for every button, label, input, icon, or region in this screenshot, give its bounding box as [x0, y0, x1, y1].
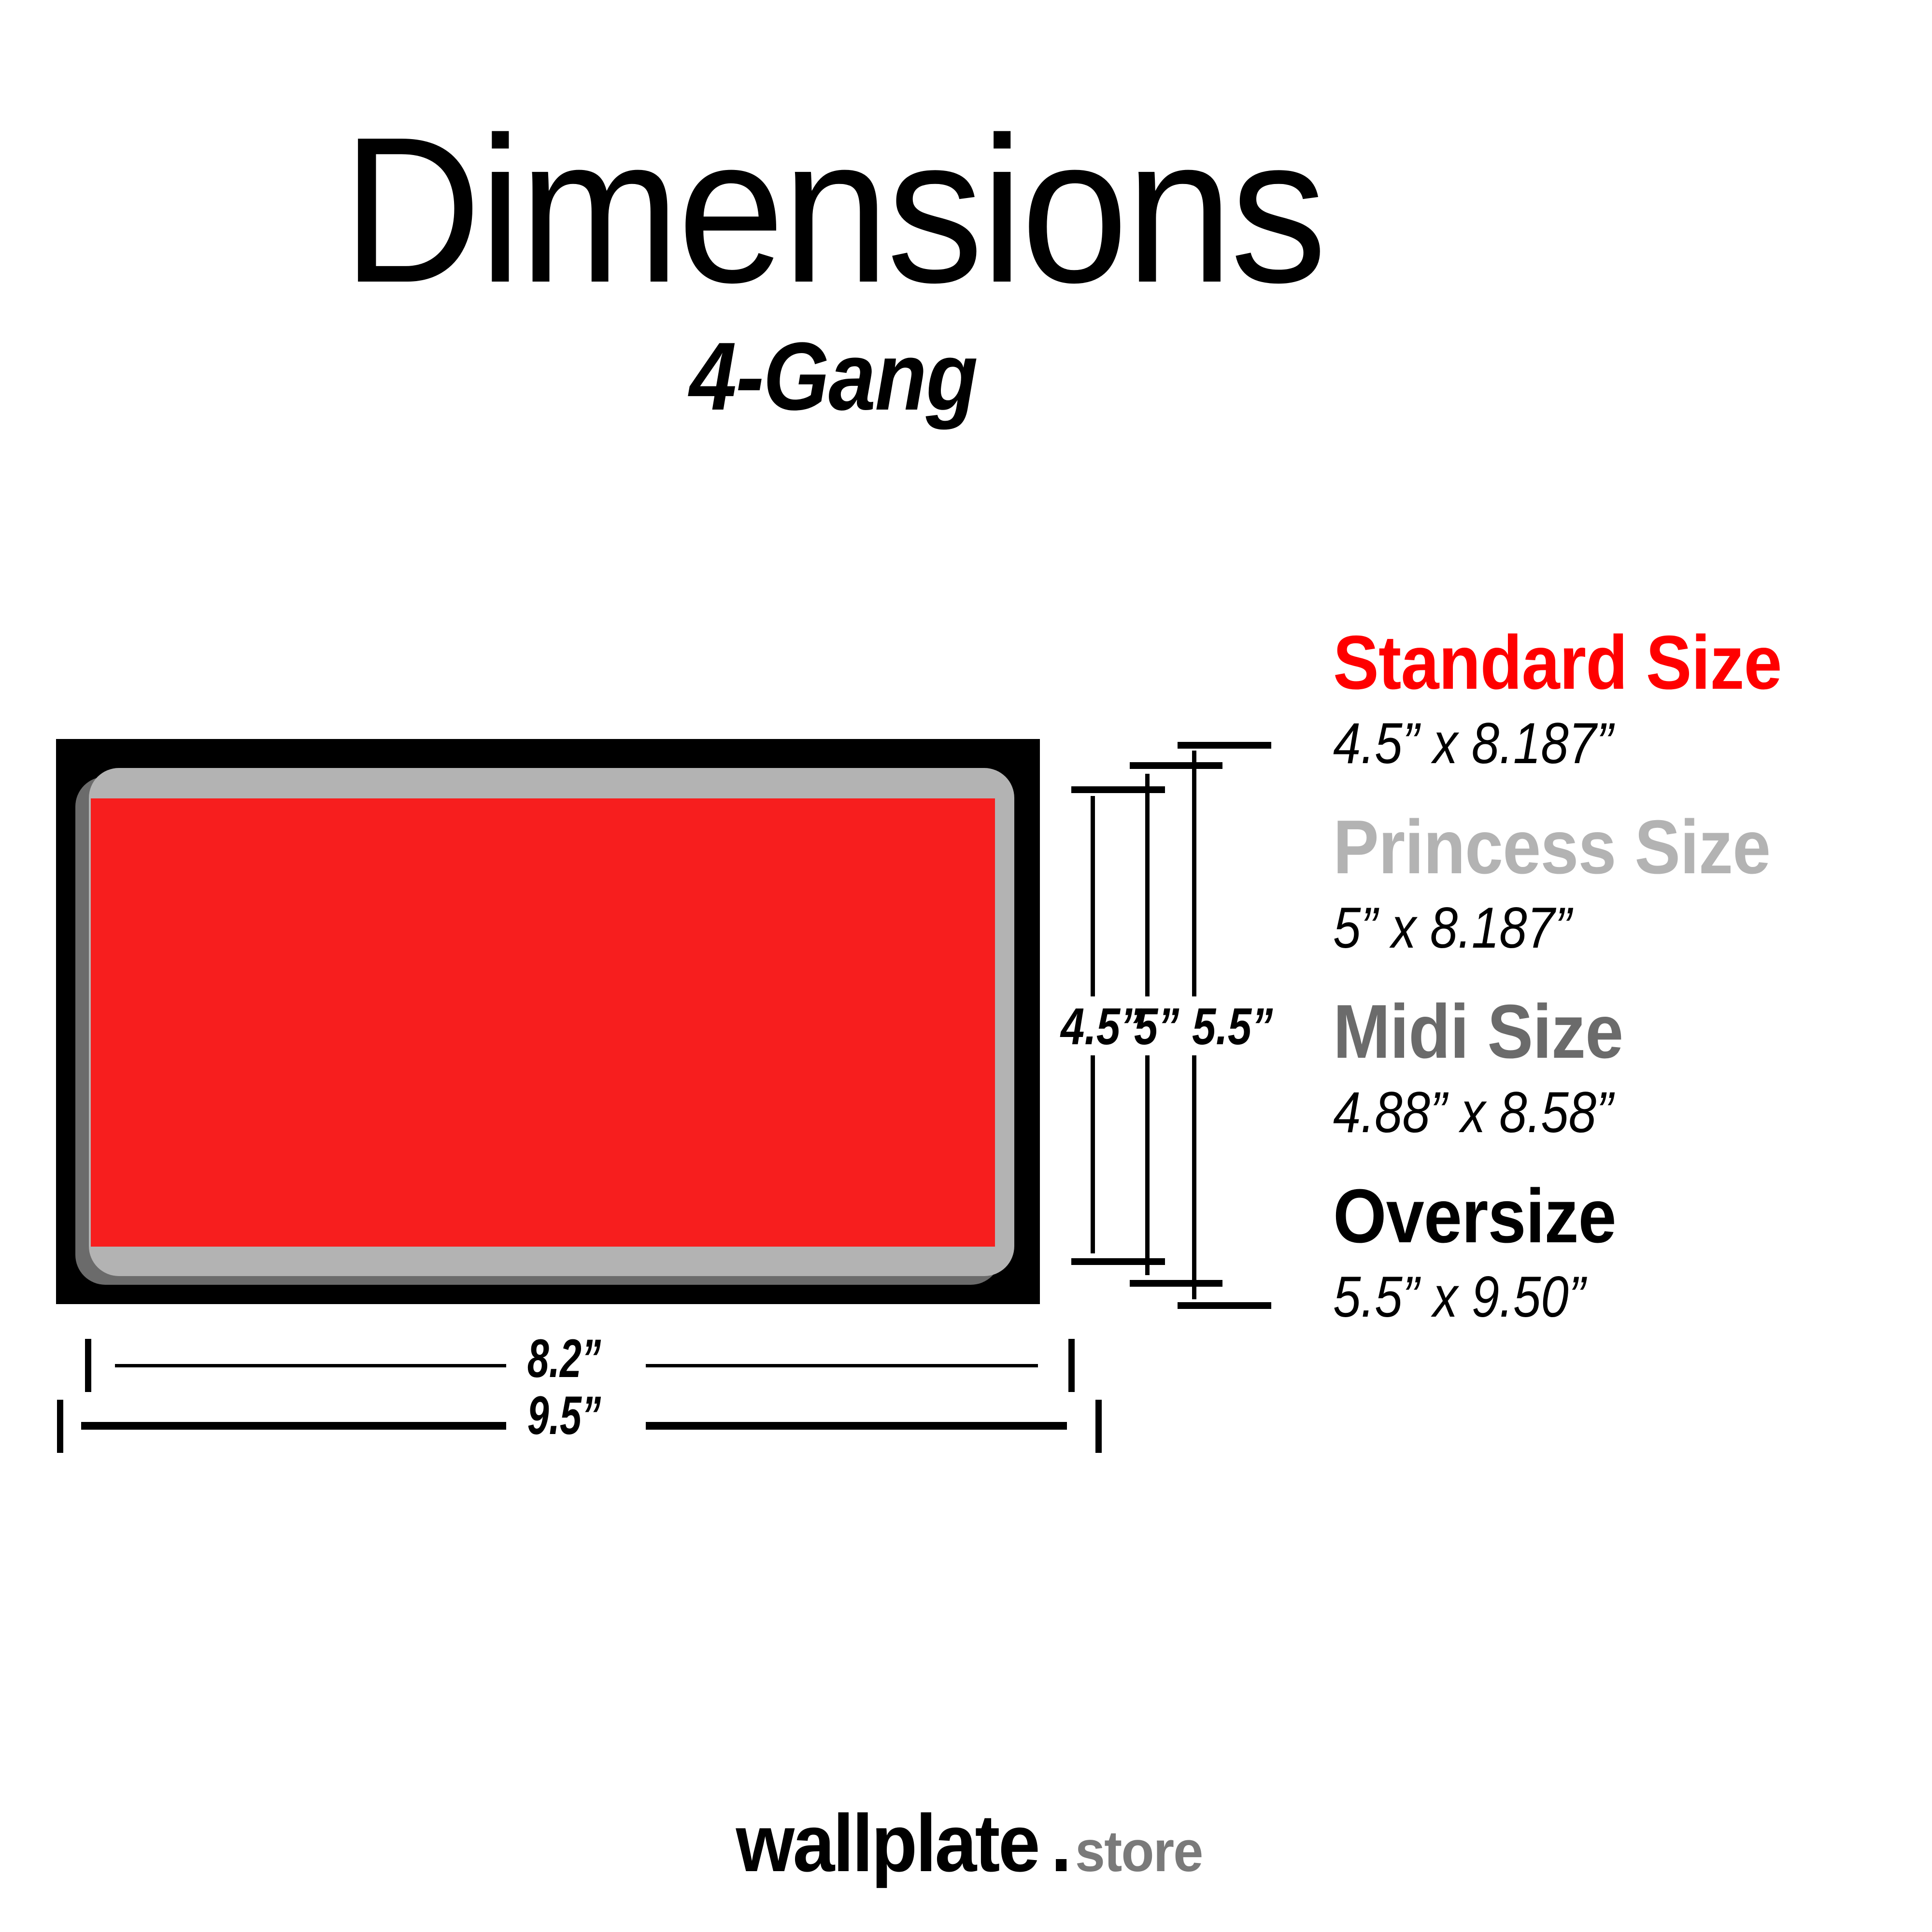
hdim-8-2-left-cap	[85, 1339, 91, 1392]
legend-value-midi: 4.88” x 8.58”	[1333, 1079, 1840, 1146]
header: Dimensions 4-Gang	[0, 106, 1666, 425]
wall-plate-illustration	[56, 739, 1040, 1304]
legend-entry-princess: Princess Size 5” x 8.187”	[1333, 808, 1922, 961]
hdim-8-2-right-cap	[1068, 1339, 1075, 1392]
page-subtitle: 4-Gang	[100, 328, 1566, 425]
legend-heading-standard: Standard Size	[1333, 623, 1863, 703]
legend-value-oversize: 5.5” x 9.50”	[1333, 1264, 1840, 1330]
vdim-4-5-line-lower	[1091, 1055, 1095, 1253]
logo-dot: .	[1051, 1797, 1070, 1890]
vdim-5-5-bottom-cap	[1178, 1302, 1271, 1309]
legend-value-princess: 5” x 8.187”	[1333, 895, 1840, 961]
vdim-5-5-label: 5.5”	[1192, 996, 1273, 1056]
vdim-4-5-label: 4.5”	[1061, 996, 1141, 1056]
hdim-8-2-line-right	[646, 1364, 1038, 1367]
vdim-5-label: 5”	[1134, 996, 1179, 1056]
vdim-5-bottom-cap	[1130, 1280, 1222, 1287]
legend-entry-standard: Standard Size 4.5” x 8.187”	[1333, 623, 1922, 777]
vdim-5-5-line-lower	[1192, 1055, 1196, 1299]
hdim-9-5-right-cap	[1095, 1400, 1102, 1453]
legend-value-standard: 4.5” x 8.187”	[1333, 710, 1840, 777]
hdim-9-5-label: 9.5”	[488, 1384, 641, 1447]
hdim-8-2-label: 8.2”	[488, 1327, 641, 1390]
plate-face-red	[91, 798, 995, 1247]
legend-heading-midi: Midi Size	[1333, 992, 1863, 1072]
legend-entry-oversize: Oversize 5.5” x 9.50”	[1333, 1177, 1922, 1330]
vdim-5-line-upper	[1145, 774, 1150, 996]
legend-heading-oversize: Oversize	[1333, 1177, 1863, 1257]
vdim-4-5-line-upper	[1091, 796, 1095, 996]
vdim-5-5-top-cap	[1178, 742, 1271, 749]
legend-entry-midi: Midi Size 4.88” x 8.58”	[1333, 992, 1922, 1146]
hdim-9-5-line-right	[646, 1422, 1067, 1430]
logo-wordmark: wallplate	[736, 1797, 1038, 1890]
vdim-4-5-bottom-cap	[1071, 1258, 1165, 1265]
vdim-5-top-cap	[1130, 762, 1222, 769]
legend-heading-princess: Princess Size	[1333, 808, 1863, 888]
size-legend: Standard Size 4.5” x 8.187” Princess Siz…	[1333, 623, 1922, 1361]
page-title: Dimensions	[58, 106, 1608, 314]
hdim-9-5-left-cap	[57, 1400, 63, 1453]
vdim-4-5-top-cap	[1071, 786, 1165, 793]
logo-tld: store	[1075, 1818, 1203, 1885]
brand-logo: wallplate.store	[0, 1797, 1932, 1890]
hdim-8-2-line-left	[115, 1364, 506, 1367]
hdim-9-5-line-left	[81, 1422, 506, 1430]
vdim-5-line-lower	[1145, 1055, 1150, 1275]
vdim-5-5-line-upper	[1192, 751, 1196, 996]
dimensions-infographic: Dimensions 4-Gang 4.5” 5” 5.5” 8.2” 9.5”…	[0, 0, 1932, 1932]
